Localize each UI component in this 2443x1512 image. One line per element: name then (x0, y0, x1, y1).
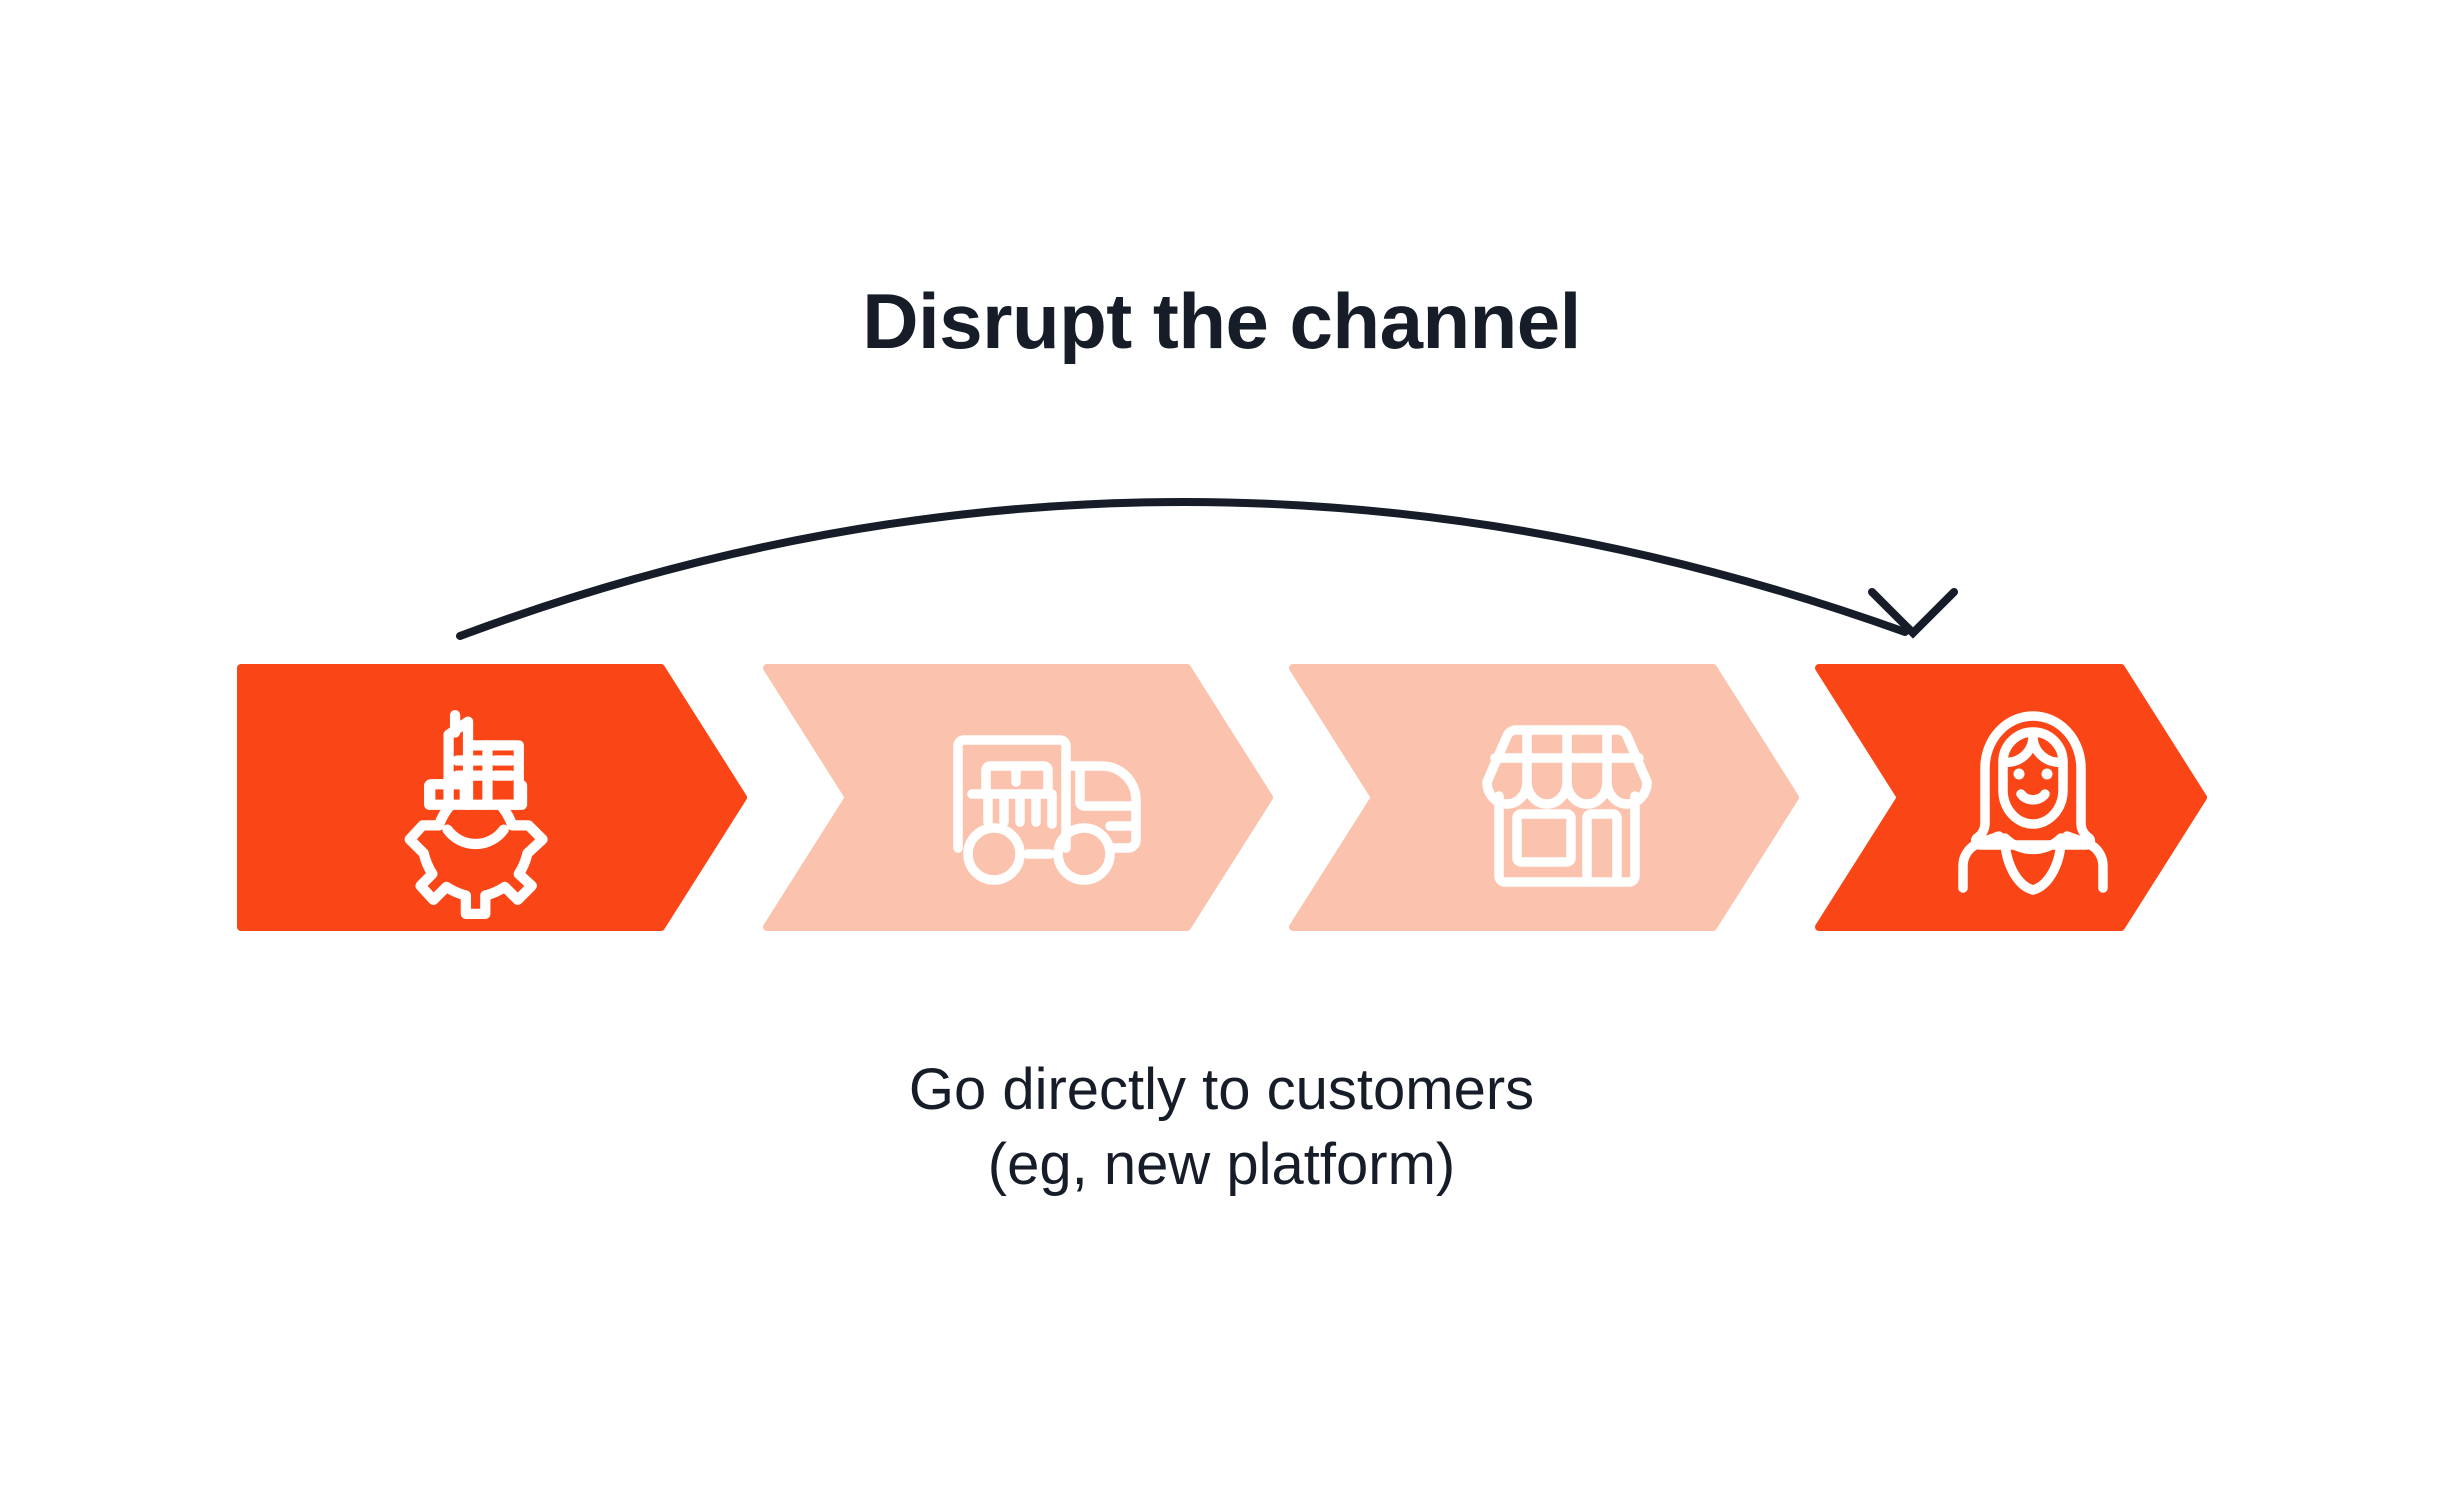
slide-canvas: Disrupt the channel (0, 0, 2443, 1512)
curved-bypass-arrow-line (460, 502, 1905, 636)
caption-line-2: (eg, new platform) (0, 1127, 2443, 1202)
chevron-step-distributor[interactable] (767, 668, 1269, 927)
chevron-step-customer[interactable] (1819, 668, 2203, 927)
chevron-shape-retailer (1293, 668, 1795, 927)
caption-line-1: Go directly to customers (0, 1052, 2443, 1127)
caption-block: Go directly to customers (eg, new platfo… (0, 1052, 2443, 1203)
chevron-shape-customer (1819, 668, 2203, 927)
chevron-step-manufacturer[interactable] (241, 668, 743, 927)
page-title: Disrupt the channel (0, 282, 2443, 360)
chevron-step-retailer[interactable] (1293, 668, 1795, 927)
value-chain-chevron-band (237, 664, 2207, 931)
curved-bypass-arrowhead (1872, 551, 1954, 633)
